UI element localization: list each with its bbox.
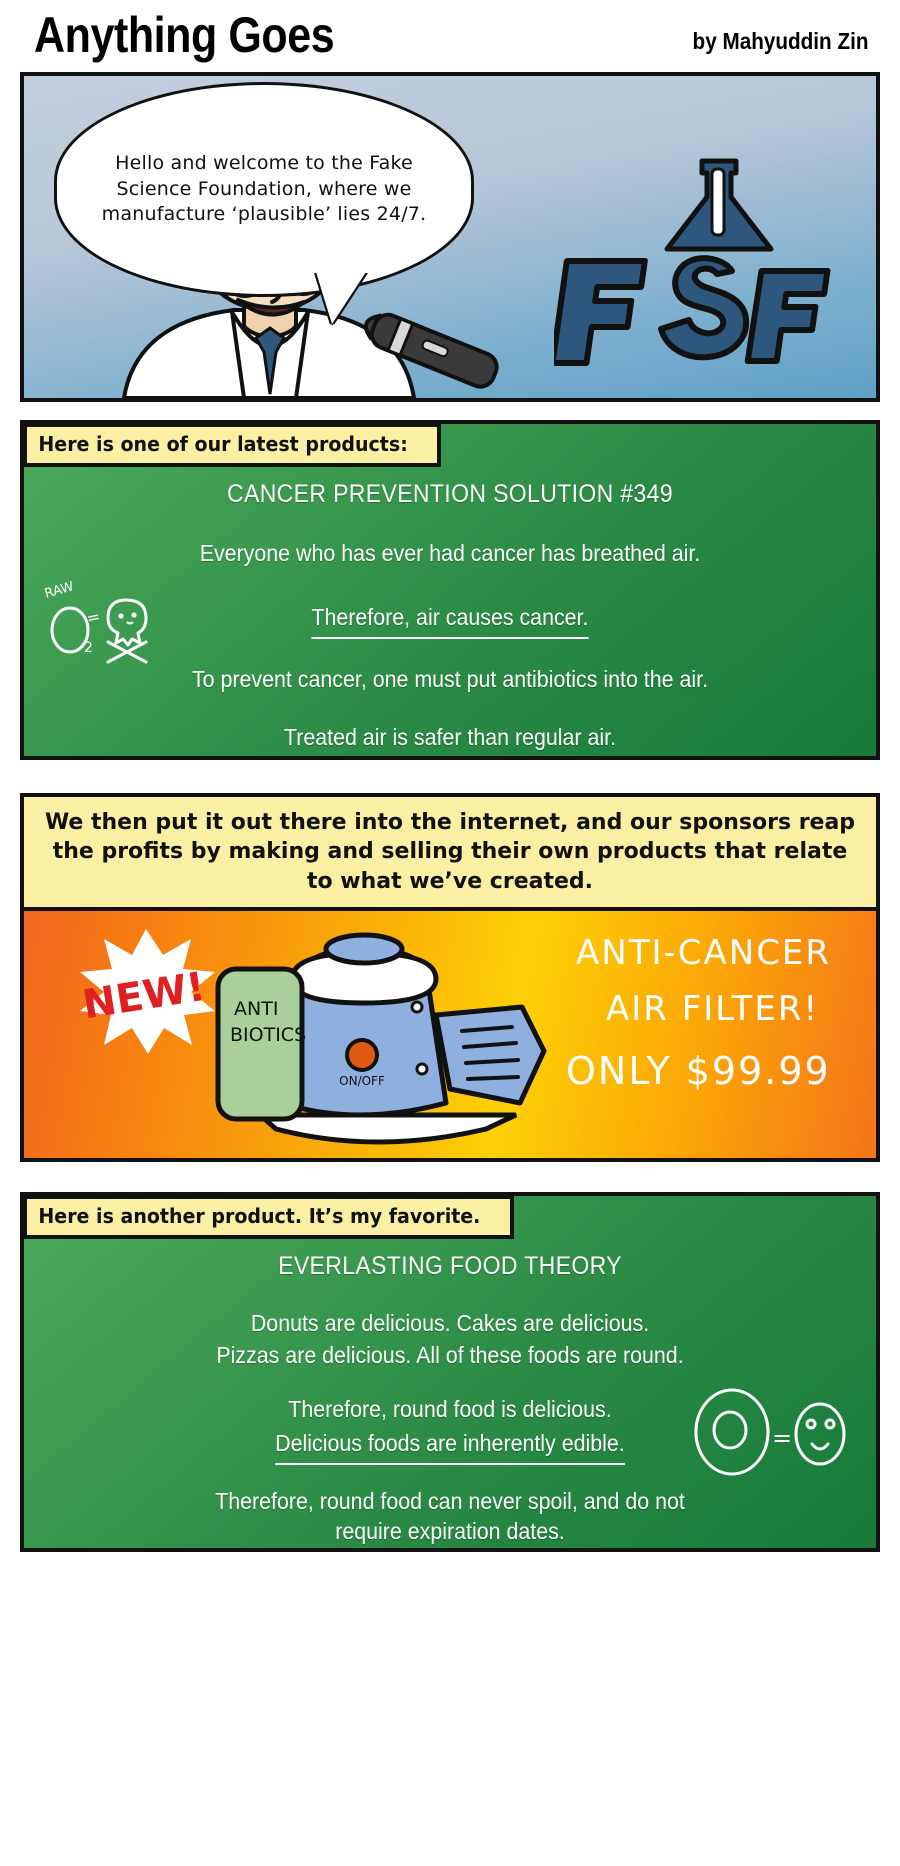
comic-panel-1: Hello and welcome to the Fake Science Fo… (20, 72, 880, 402)
flask-icon (667, 161, 771, 249)
panel-2-caption-text: Here is one of our latest products: (27, 432, 419, 458)
panel-2-caption: Here is one of our latest products: (23, 423, 441, 467)
comic-panel-4: Here is another product. It’s my favorit… (20, 1192, 880, 1552)
panel-4-line-6-row: require expiration dates. (24, 1516, 876, 1548)
panel-2-line-1: Everyone who has ever had cancer has bre… (54, 538, 846, 570)
panel-2-product-title-row: CANCER PREVENTION SOLUTION #349 (24, 480, 876, 509)
comic-header: Anything Goes by Mahyuddin Zin (0, 0, 900, 70)
donut-equals-face-doodle: = (684, 1374, 854, 1494)
ad-line-2: AIR FILTER! (606, 989, 819, 1029)
doodle-subscript: 2 (84, 640, 93, 656)
comic-panel-3-product: NEW! ON/OFF (20, 907, 880, 1162)
ad-price: ONLY $99.99 (566, 1049, 831, 1093)
speech-bubble-text: Hello and welcome to the Fake Science Fo… (57, 151, 471, 228)
panel-2-line-4-row: Treated air is safer than regular air. (24, 722, 876, 754)
ad-line-1: ANTI-CANCER (576, 933, 831, 973)
doodle-equals-sign: = (772, 1424, 792, 1452)
microphone-icon (324, 292, 524, 402)
comic-title: Anything Goes (34, 6, 334, 64)
fsf-logo (554, 153, 844, 368)
comic-author: by Mahyuddin Zin (692, 28, 868, 55)
doodle-equals: = (85, 607, 102, 628)
panel-3-caption-inner: We then put it out there into the intern… (24, 797, 876, 907)
panel-4-caption: Here is another product. It’s my favorit… (23, 1195, 514, 1239)
panel-4-line-2: Pizzas are delicious. All of these foods… (54, 1340, 846, 1372)
panel-3-caption-text: We then put it out there into the intern… (38, 808, 862, 895)
panel-4-line-1-row: Donuts are delicious. Cakes are deliciou… (24, 1308, 876, 1340)
comic-strip: Anything Goes by Mahyuddin Zin (0, 0, 900, 1866)
air-filter-device: ON/OFF ANTI BIOTICS (204, 919, 634, 1162)
panel-4-product-title-row: EVERLASTING FOOD THEORY (24, 1252, 876, 1281)
comic-panel-3-caption: We then put it out there into the intern… (20, 793, 880, 911)
panel-2-line-4: Treated air is safer than regular air. (54, 722, 846, 754)
panel-4-line-4: Delicious foods are inherently edible. (275, 1428, 625, 1465)
on-off-label: ON/OFF (339, 1074, 385, 1088)
doodle-raw-label: RAW (43, 580, 76, 602)
panel-2-line-2: Therefore, air causes cancer. (311, 602, 588, 639)
panel-4-line-2-row: Pizzas are delicious. All of these foods… (24, 1340, 876, 1372)
panel-4-product-title: EVERLASTING FOOD THEORY (58, 1252, 842, 1281)
panel-2-line-1-row: Everyone who has ever had cancer has bre… (24, 538, 876, 570)
panel-4-line-6: require expiration dates. (54, 1516, 846, 1548)
panel-4-line-1: Donuts are delicious. Cakes are deliciou… (54, 1308, 846, 1340)
canister-line-2: BIOTICS (230, 1024, 306, 1046)
panel-2-product-title: CANCER PREVENTION SOLUTION #349 (58, 480, 842, 509)
canister-line-1: ANTI (234, 998, 278, 1020)
comic-panel-2: Here is one of our latest products: RAW … (20, 420, 880, 760)
panel-4-caption-text: Here is another product. It’s my favorit… (27, 1204, 492, 1230)
speech-bubble: Hello and welcome to the Fake Science Fo… (54, 82, 474, 297)
raw-oxygen-skull-doodle: RAW 2 = (42, 580, 192, 670)
new-badge-starburst: NEW! (66, 927, 226, 1062)
